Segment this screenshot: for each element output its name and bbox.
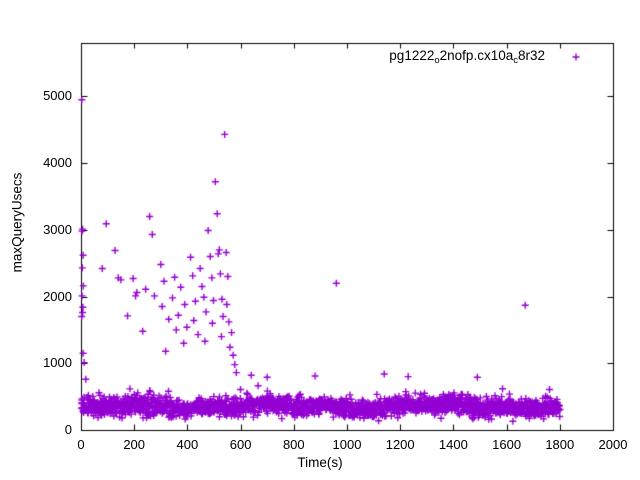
x-tick-label: 2000	[583, 437, 640, 452]
y-tick-label: 2000	[20, 289, 72, 304]
legend-text-before: pg1222	[389, 48, 434, 63]
scatter-plot-figure: maxQueryUsecs vs Time for qr100.L1 pg122…	[0, 0, 640, 480]
y-tick-label: 3000	[20, 222, 72, 237]
legend-subscript-o: o	[434, 55, 439, 66]
y-tick-label: 5000	[20, 88, 72, 103]
x-tick-label: 1200	[370, 437, 430, 452]
y-tick-label: 0	[20, 422, 72, 437]
x-tick-label: 800	[264, 437, 324, 452]
x-axis-label: Time(s)	[0, 455, 640, 470]
x-tick-label: 1600	[477, 437, 537, 452]
legend-entry: pg1222o2nofp.cx10ac8r32	[389, 48, 545, 63]
y-tick-label: 1000	[20, 355, 72, 370]
x-tick-label: 1000	[317, 437, 377, 452]
y-axis-label: maxQueryUsecs	[10, 153, 25, 293]
x-tick-label: 400	[157, 437, 217, 452]
x-tick-label: 200	[104, 437, 164, 452]
y-tick-label: 4000	[20, 155, 72, 170]
x-tick-label: 0	[51, 437, 111, 452]
x-tick-label: 1800	[530, 437, 590, 452]
x-tick-label: 1400	[423, 437, 483, 452]
x-tick-label: 600	[211, 437, 271, 452]
legend-subscript-c: c	[513, 55, 518, 66]
legend-text-after: 8r32	[518, 48, 545, 63]
plot-area	[0, 0, 640, 480]
legend-text-mid: 2nofp.cx10a	[440, 48, 514, 63]
